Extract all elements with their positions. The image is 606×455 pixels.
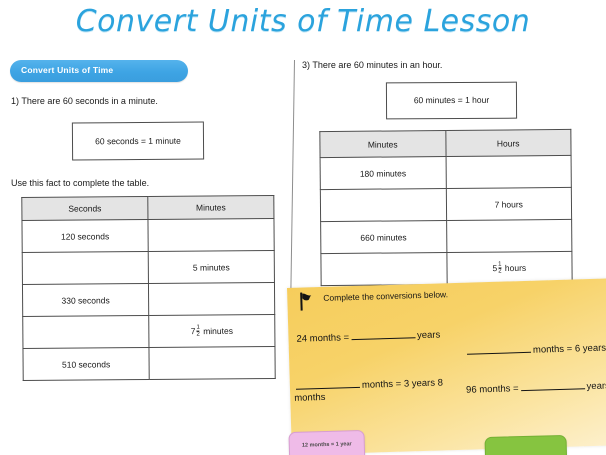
table-cell[interactable]: 712 minutes — [149, 315, 275, 348]
table-cell[interactable]: 660 minutes — [321, 220, 447, 253]
topic-pill-label: Convert Units of Time — [21, 65, 113, 75]
table-row: 7 hours — [320, 187, 571, 221]
sticky-note-conversions[interactable]: Complete the conversions below. 24 month… — [287, 278, 606, 455]
conversion-2[interactable]: months = 6 years — [465, 341, 606, 358]
topic-pill[interactable]: Convert Units of Time — [10, 60, 188, 82]
table-row: 510 seconds — [23, 347, 275, 381]
table-cell[interactable]: 5 minutes — [148, 251, 274, 284]
column-header-minutes: Minutes — [320, 131, 446, 158]
table-cell[interactable] — [22, 252, 148, 285]
column-header-hours: Hours — [445, 129, 571, 156]
conversion-2-after: months = 6 years — [533, 343, 606, 356]
fraction-one-half: 12 — [498, 262, 501, 275]
table-cell[interactable] — [23, 315, 149, 348]
conversion-4-before: 96 months = — [466, 383, 519, 396]
table-cell[interactable] — [148, 283, 274, 316]
table-row: 712 minutes — [23, 315, 275, 349]
table-cell[interactable]: 330 seconds — [22, 284, 148, 317]
table-row: 330 seconds — [22, 283, 274, 317]
conversion-1-after: years — [417, 329, 441, 341]
mini-note-pink[interactable]: 12 months = 1 year — [288, 430, 365, 455]
conversion-3[interactable]: months = 3 years 8 months — [294, 375, 445, 403]
minutes-hours-table: Minutes Hours 180 minutes 7 hours 660 mi… — [319, 129, 572, 286]
question-1-text: 1) There are 60 seconds in a minute. — [11, 96, 158, 106]
table-row: 180 minutes — [320, 155, 571, 189]
table-cell[interactable]: 180 minutes — [320, 157, 446, 190]
page-title: Convert Units of Time Lesson — [0, 4, 606, 39]
column-header-minutes: Minutes — [148, 196, 274, 220]
seconds-minutes-table: Seconds Minutes 120 seconds 5 minutes 33… — [21, 195, 275, 381]
table-header-row: Minutes Hours — [320, 129, 571, 157]
table-cell[interactable] — [321, 252, 447, 285]
table-cell[interactable]: 120 seconds — [22, 220, 148, 253]
table-row: 660 minutes — [321, 219, 572, 253]
worksheet-page: Convert Units of Time Lesson Convert Uni… — [0, 0, 606, 455]
conversion-1-before: 24 months = — [296, 332, 349, 345]
table-cell[interactable]: 7 hours — [446, 187, 572, 220]
table-cell[interactable] — [446, 155, 572, 188]
fact-box-minutes: 60 minutes = 1 hour — [386, 82, 517, 120]
pin-flag-icon — [295, 291, 316, 312]
mini-note-pink-label: 12 months = 1 year — [290, 441, 364, 449]
conversion-4[interactable]: 96 months =years — [466, 378, 606, 395]
instruction-text: Use this fact to complete the table. — [11, 178, 149, 188]
table-header-row: Seconds Minutes — [22, 196, 274, 221]
mini-note-green[interactable] — [484, 435, 567, 455]
table-row: 120 seconds — [22, 219, 274, 253]
fact-box-minutes-text: 60 minutes = 1 hour — [387, 95, 516, 106]
sticky-note-title: Complete the conversions below. — [323, 289, 448, 303]
question-3-text: 3) There are 60 minutes in an hour. — [302, 60, 442, 70]
mini-note-green-label — [486, 446, 566, 448]
conversion-3-blank[interactable] — [296, 378, 360, 390]
left-column: Convert Units of Time 1) There are 60 se… — [0, 52, 292, 455]
column-header-seconds: Seconds — [22, 197, 148, 221]
table-cell[interactable] — [148, 219, 274, 252]
conversion-4-blank[interactable] — [520, 379, 584, 391]
conversion-1-blank[interactable] — [351, 328, 415, 340]
table-row: 5 minutes — [22, 251, 274, 285]
table-cell[interactable] — [446, 219, 572, 252]
fraction-one-half: 12 — [196, 325, 199, 338]
table-cell[interactable] — [149, 347, 275, 380]
table-cell[interactable] — [320, 189, 446, 222]
fact-box-seconds-text: 60 seconds = 1 minute — [73, 136, 203, 147]
fact-box-seconds: 60 seconds = 1 minute — [72, 122, 204, 161]
conversion-2-blank[interactable] — [467, 343, 531, 355]
conversion-1[interactable]: 24 months =years — [296, 327, 440, 344]
conversion-4-after: years — [586, 380, 606, 392]
table-cell[interactable]: 510 seconds — [23, 347, 149, 380]
